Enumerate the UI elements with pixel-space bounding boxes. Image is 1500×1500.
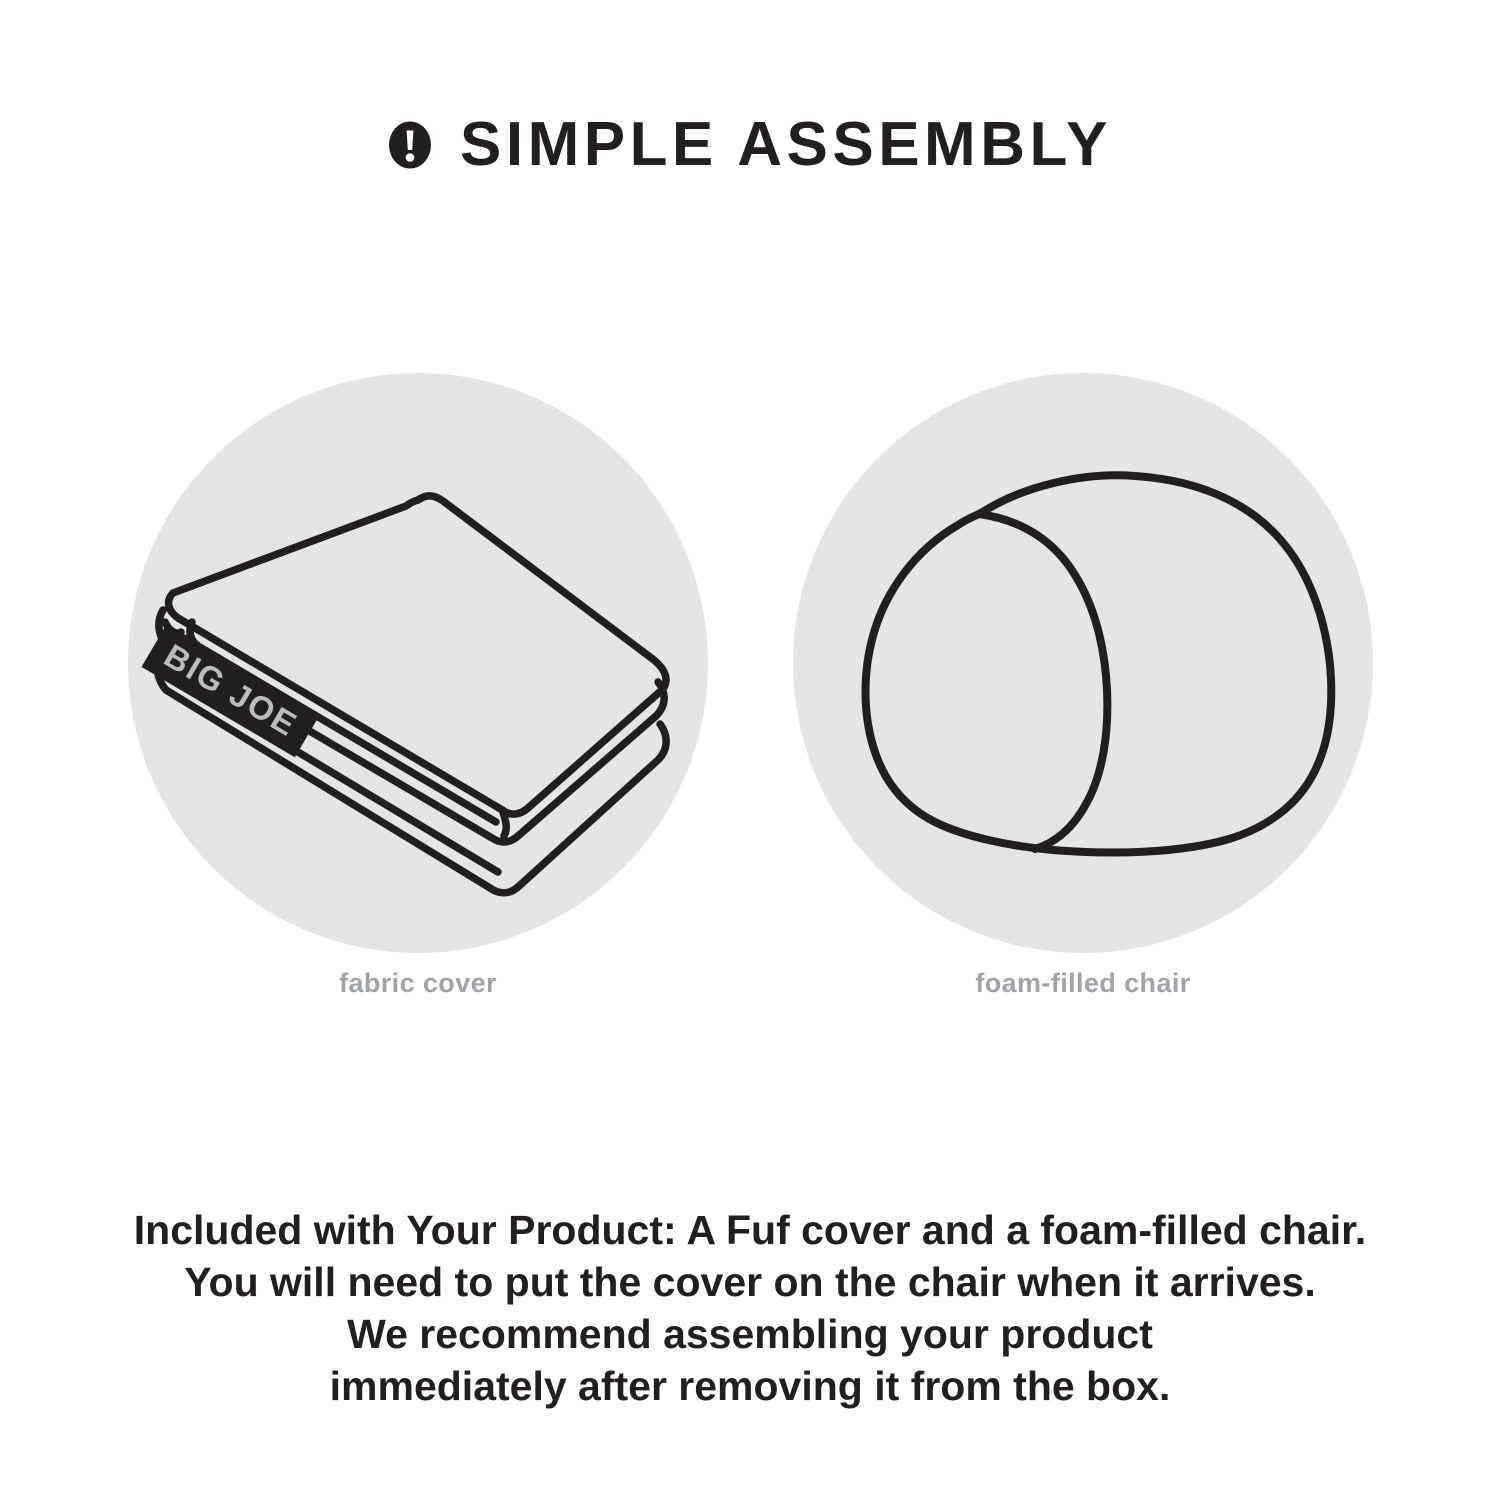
folded-fabric-cover-illustration: BIG JOE: [118, 360, 718, 960]
foam-filled-chair-illustration: [783, 360, 1383, 960]
exclamation-circle-icon: [388, 121, 432, 169]
footer-line-1: Included with Your Product: A Fuf cover …: [0, 1204, 1500, 1256]
figure-fabric-cover: BIG JOE fabric cover: [118, 360, 718, 1040]
footer-line-3: We recommend assembling your product: [0, 1308, 1500, 1360]
footer-copy: Included with Your Product: A Fuf cover …: [0, 1204, 1500, 1412]
footer-line-4: immediately after removing it from the b…: [0, 1360, 1500, 1412]
assembly-infographic: SIMPLE ASSEMBLY: [0, 0, 1500, 1500]
figure-circle-foam-filled-chair: [783, 360, 1383, 960]
page-header: SIMPLE ASSEMBLY: [0, 100, 1500, 190]
page-title: SIMPLE ASSEMBLY: [460, 114, 1112, 176]
figure-foam-filled-chair: foam-filled chair: [783, 360, 1383, 1040]
caption-fabric-cover: fabric cover: [118, 968, 718, 999]
footer-line-2: You will need to put the cover on the ch…: [0, 1256, 1500, 1308]
caption-foam-filled-chair: foam-filled chair: [783, 968, 1383, 999]
illustration-row: BIG JOE fabric cover foam-: [0, 360, 1500, 1040]
figure-circle-fabric-cover: BIG JOE: [118, 360, 718, 960]
